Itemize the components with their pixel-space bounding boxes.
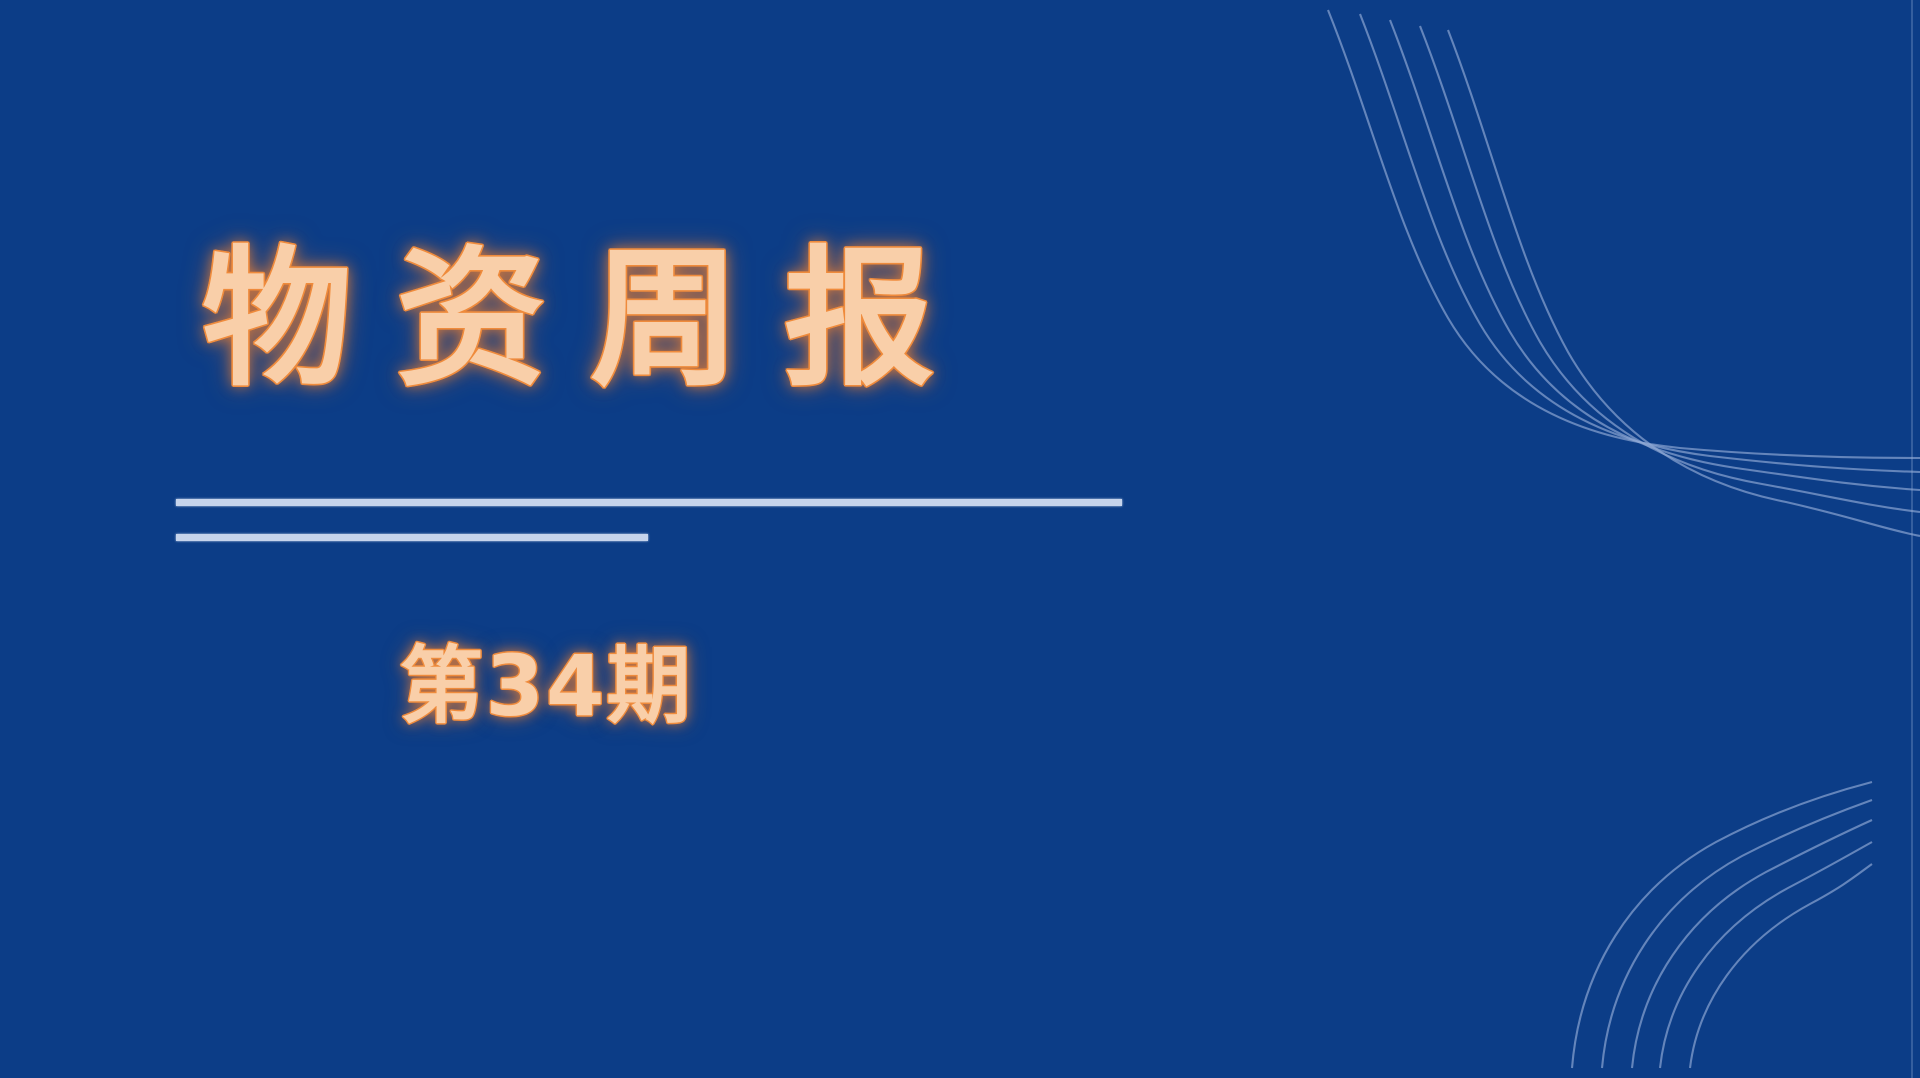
page-title: 物资周报 <box>176 236 1176 404</box>
title-rule-long <box>176 499 1122 506</box>
title-rule-short <box>176 534 648 541</box>
cover-slide: 物资周报 第34期 <box>0 0 1920 1078</box>
page-subtitle: 第34期 <box>176 640 916 732</box>
title-block: 物资周报 <box>176 236 1176 404</box>
right-edge-rule <box>1911 0 1913 1078</box>
